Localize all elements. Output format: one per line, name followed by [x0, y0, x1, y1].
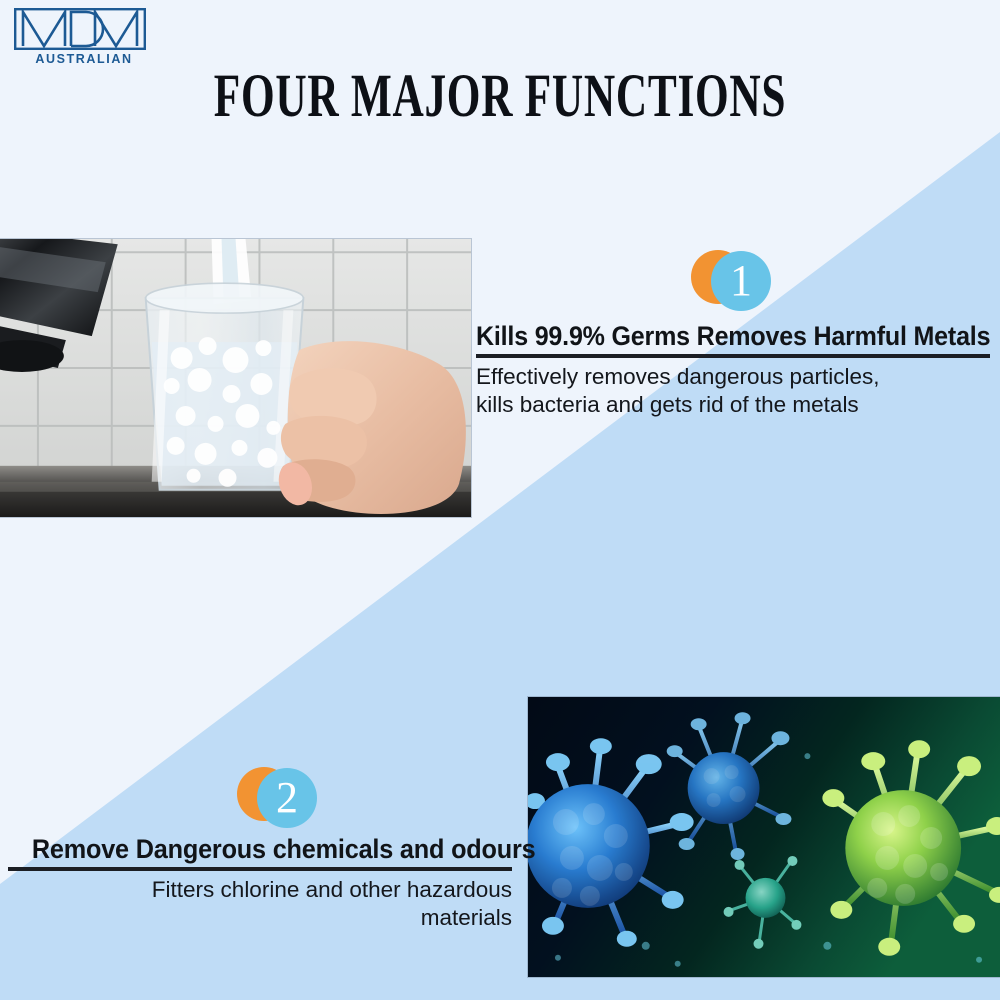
mdm-logo-icon	[14, 8, 146, 50]
feature-2-body-line-2: materials	[8, 904, 512, 933]
feature-2-heading: Remove Dangerous chemicals and odours	[32, 835, 512, 864]
poster-canvas: AUSTRALIAN FOUR MAJOR FUNCTIONS	[0, 0, 1000, 1000]
feature-2-block: Remove Dangerous chemicals and odours Fi…	[8, 835, 512, 933]
feature-1-image	[0, 238, 472, 518]
brand-logo: AUSTRALIAN	[14, 8, 154, 66]
feature-2-image	[527, 696, 1000, 978]
badge-number: 2	[276, 773, 298, 822]
feature-1-underline	[476, 354, 990, 358]
feature-2-underline	[8, 867, 512, 871]
feature-1-block: Kills 99.9% Germs Removes Harmful Metals…	[476, 322, 990, 420]
feature-1-number-badge: 1	[686, 245, 780, 315]
feature-1-body-line-2: kills bacteria and gets rid of the metal…	[476, 391, 990, 420]
logo-subtitle: AUSTRALIAN	[14, 52, 154, 66]
badge-number: 1	[730, 256, 752, 305]
feature-2-body-line-1: Fitters chlorine and other hazardous	[8, 876, 512, 905]
page-title: FOUR MAJOR FUNCTIONS	[145, 62, 855, 132]
feature-2-body: Fitters chlorine and other hazardous mat…	[8, 876, 512, 934]
feature-2-number-badge: 2	[232, 762, 326, 832]
feature-1-body-line-1: Effectively removes dangerous particles,	[476, 363, 990, 392]
feature-1-body: Effectively removes dangerous particles,…	[476, 363, 990, 421]
feature-1-heading: Kills 99.9% Germs Removes Harmful Metals	[476, 322, 962, 351]
